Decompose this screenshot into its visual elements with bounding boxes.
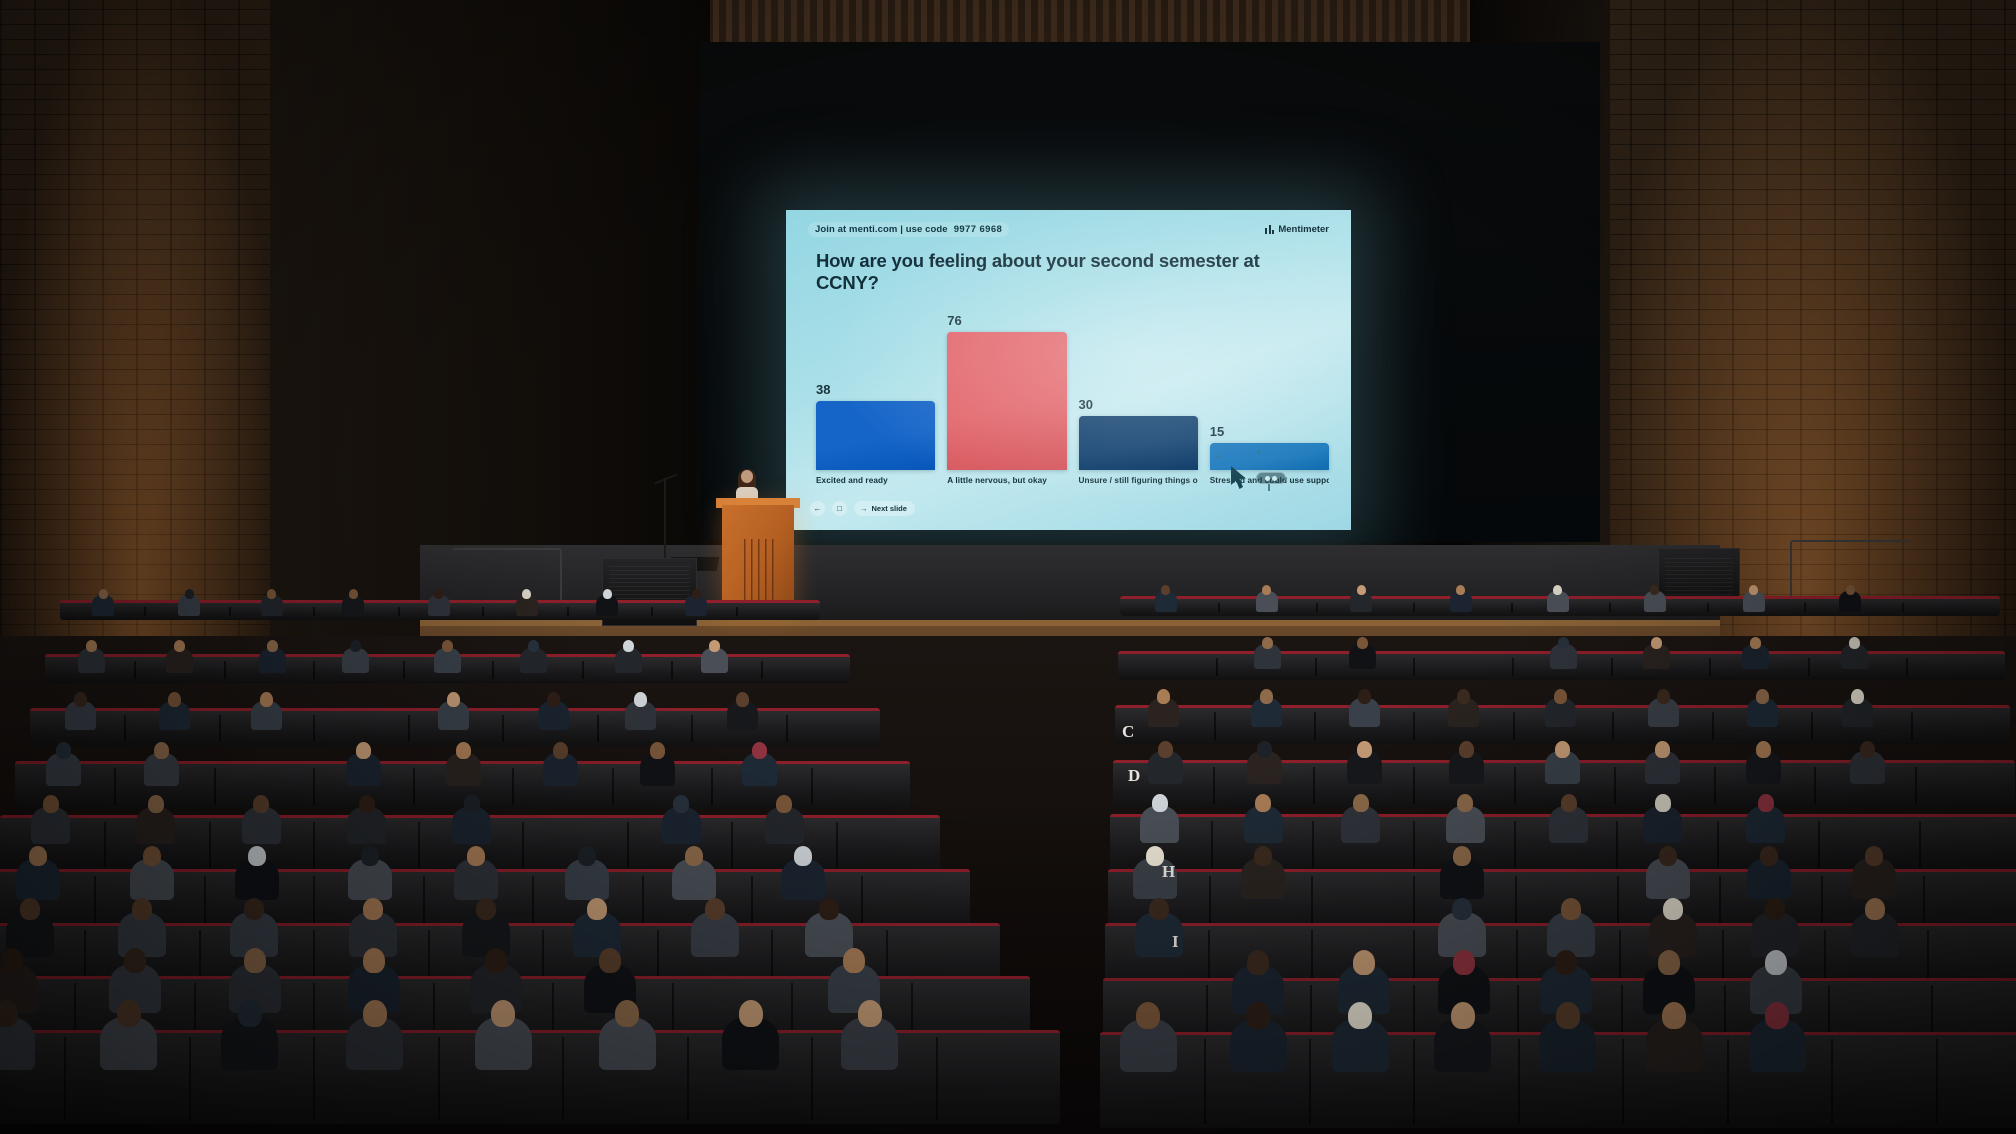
audience-member-head [1, 948, 23, 973]
bar-value-label: 38 [816, 382, 935, 397]
audience-member-head [491, 1000, 515, 1027]
seat-divider [313, 661, 315, 679]
audience-member-head [673, 795, 689, 813]
audience-member-head [522, 589, 531, 599]
audience-member-head [705, 898, 725, 920]
seat-divider [1413, 1039, 1415, 1124]
seat-divider [582, 661, 584, 679]
poll-bar-chart: 38763015 [816, 302, 1329, 470]
audience-member-head [1357, 585, 1366, 595]
seat-divider [1413, 821, 1415, 868]
seat-divider [1514, 767, 1516, 805]
audience-member-head [248, 846, 266, 866]
audience-member-head [434, 589, 443, 599]
seat-divider [597, 715, 599, 743]
audience-member-head [267, 589, 276, 599]
audience-member-head [174, 640, 185, 652]
join-instructions: Join at menti.com | use code9977 6968 [808, 222, 1009, 237]
audience-member-head [1556, 1002, 1580, 1029]
auditorium-scene: Join at menti.com | use code9977 6968 Me… [0, 0, 2016, 1134]
audience-member-head [56, 742, 71, 759]
audience-member-head [143, 846, 161, 866]
audience-member-head [185, 589, 194, 599]
seat-divider [1313, 767, 1315, 805]
audience-member-head [464, 795, 480, 813]
row-letter: C [1122, 722, 1134, 742]
seat-divider [1218, 603, 1220, 612]
audience-member-head [1457, 794, 1473, 812]
audience-member-head [74, 692, 87, 707]
audience-member-head [709, 640, 720, 652]
audience-member-head [1765, 950, 1787, 975]
audience-member-head [685, 846, 703, 866]
qr-code-icon[interactable]: □ [832, 501, 847, 516]
seat-divider [1213, 767, 1215, 805]
audience-member-head [356, 742, 371, 759]
seat-divider [1712, 712, 1714, 740]
seat-divider [1614, 767, 1616, 805]
audience-member-head [476, 898, 496, 920]
audience-member-head [1149, 898, 1169, 920]
seat-divider [711, 768, 713, 805]
audience-member-head [1865, 898, 1885, 920]
seat-divider [1609, 603, 1611, 612]
audience-member-head [244, 948, 266, 973]
audience-member-head [1561, 794, 1577, 812]
audience-member-head [1555, 950, 1577, 975]
seat-divider [438, 1037, 440, 1120]
seat-divider [1612, 712, 1614, 740]
seat-divider [418, 822, 420, 868]
seat-divider [651, 607, 653, 616]
audience-member-head [1760, 846, 1778, 866]
audience-member-head [1262, 585, 1271, 595]
audience-member-head [349, 589, 358, 599]
seat-divider [1804, 603, 1806, 612]
seat-divider [811, 1037, 813, 1120]
auditorium-house: CDHI [0, 636, 2016, 1134]
stage-sidewall-left [270, 0, 710, 640]
seat-divider [408, 715, 410, 743]
audience-member-head [253, 795, 269, 813]
audience-member-head [1459, 741, 1474, 758]
audience-member-head [1246, 1002, 1270, 1029]
audience-member-head [1662, 1002, 1686, 1029]
audience-member-head [1555, 741, 1570, 758]
audience-member-head [447, 692, 460, 707]
audience-member-head [467, 846, 485, 866]
audience-member-head [260, 692, 273, 707]
seat-divider [1312, 821, 1314, 868]
reaction-pill[interactable] [1256, 472, 1286, 484]
arrow-right-icon: → [860, 504, 868, 513]
seat-divider [313, 1037, 315, 1120]
audience-member-head [43, 795, 59, 813]
seat-divider [1315, 658, 1317, 677]
audience-member-head [267, 640, 278, 652]
seat-divider [219, 715, 221, 743]
seat-divider [313, 715, 315, 743]
chart-category-labels: Excited and readyA little nervous, but o… [816, 476, 1329, 485]
seat-divider [229, 607, 231, 616]
audience-member-head [1254, 846, 1272, 866]
audience-member-head [1257, 741, 1272, 758]
seat-divider [562, 1037, 564, 1120]
audience-member-head [615, 1000, 639, 1027]
audience-member-head [168, 692, 181, 707]
seat-divider [811, 768, 813, 805]
audience-member-head [485, 948, 507, 973]
seat-divider [403, 661, 405, 679]
audience-member-head [1657, 689, 1670, 704]
audience-member-head [1756, 689, 1769, 704]
audience-member-head [623, 640, 634, 652]
seat-divider [691, 715, 693, 743]
audience-member-head [1558, 637, 1569, 649]
audience-member-head [154, 742, 169, 759]
seat-divider [1919, 821, 1921, 868]
bar [947, 332, 1066, 470]
podium [722, 505, 794, 615]
seat-divider [1511, 603, 1513, 612]
audience-member-head [361, 846, 379, 866]
audience-member-head [1756, 741, 1771, 758]
brick-wall-left [0, 0, 280, 700]
row-letter: D [1128, 766, 1140, 786]
audience-member-head [1846, 585, 1855, 595]
seat-divider [1717, 821, 1719, 868]
brand-label: Mentimeter [1278, 224, 1329, 235]
seat-divider [736, 607, 738, 616]
slide-toolbar[interactable]: ← □ → Next slide [810, 501, 915, 516]
seat-divider [1936, 1039, 1938, 1124]
audience-member-head [692, 589, 701, 599]
seat-divider [313, 822, 315, 868]
audience-member-head [1659, 846, 1677, 866]
seat-divider [1413, 767, 1415, 805]
reaction-pointer [1268, 484, 1270, 491]
audience-member-head [117, 1000, 141, 1027]
audience-member-head [1561, 898, 1581, 920]
audience-member-head [1136, 1002, 1160, 1029]
audience-member-head [603, 589, 612, 599]
audience-member-head [1157, 689, 1170, 704]
bar [1210, 443, 1329, 470]
audience-member-head [363, 948, 385, 973]
audience-member-head [244, 898, 264, 920]
seat-divider [1413, 712, 1415, 740]
audience-member-head [1348, 1002, 1372, 1029]
slide-header: Join at menti.com | use code9977 6968 Me… [786, 221, 1351, 237]
seat-divider [1811, 712, 1813, 740]
audience-member-head [736, 692, 749, 707]
bar-column: 15 [1210, 302, 1329, 470]
audience-member-head [1765, 898, 1785, 920]
seat-divider [836, 822, 838, 868]
podium-slats [744, 539, 778, 601]
seat-divider [1214, 712, 1216, 740]
seat-divider [1818, 821, 1820, 868]
bar-value-label: 15 [1210, 424, 1329, 439]
audience-member-head [1453, 846, 1471, 866]
bar-column: 38 [816, 302, 935, 470]
audience-member-head [1161, 585, 1170, 595]
audience-member-head [350, 640, 361, 652]
mentimeter-brand: Mentimeter [1265, 224, 1329, 235]
seat-divider [1314, 712, 1316, 740]
seat-divider [1512, 658, 1514, 677]
seat-divider [209, 822, 211, 868]
seat-divider [134, 661, 136, 679]
audience-member-head [1655, 794, 1671, 812]
seat-divider [1714, 767, 1716, 805]
mentimeter-logo-icon [1265, 225, 1274, 234]
seat-divider [1611, 658, 1613, 677]
seat-divider [1709, 658, 1711, 677]
bar [816, 401, 935, 470]
audience-member-head [29, 846, 47, 866]
audience-member-head [547, 692, 560, 707]
audience-member-head [456, 742, 471, 759]
audience-member-head [1650, 585, 1659, 595]
audience-member-head [1247, 950, 1269, 975]
seat-divider [761, 661, 763, 679]
poll-question-title: How are you feeling about your second se… [816, 250, 1321, 294]
audience-member-head [1849, 637, 1860, 649]
category-label: Excited and ready [816, 476, 935, 485]
audience-member-head [776, 795, 792, 813]
seat-divider [1622, 1039, 1624, 1124]
audience-member-head [858, 1000, 882, 1027]
audience-member-head [1262, 637, 1273, 649]
presenter-head [741, 470, 753, 483]
audience-member-head [1663, 898, 1683, 920]
seat-divider [492, 661, 494, 679]
microphone-stand [664, 478, 666, 570]
seat-divider [214, 768, 216, 805]
seat-divider [1911, 712, 1913, 740]
audience-member-head [124, 948, 146, 973]
seat-divider [313, 607, 315, 616]
audience-member-head [1353, 950, 1375, 975]
seat-divider [936, 1037, 938, 1120]
audience-member-head [1158, 741, 1173, 758]
audience-member-head [1453, 950, 1475, 975]
seat-divider [104, 822, 106, 868]
seat-divider [627, 822, 629, 868]
seat-divider [144, 607, 146, 616]
bar [1079, 416, 1198, 470]
seat-divider [612, 768, 614, 805]
seat-divider [1831, 1039, 1833, 1124]
audience-member-head [1357, 741, 1372, 758]
audience-member-head [1750, 637, 1761, 649]
audience-member-head [1758, 794, 1774, 812]
audience-member-head [843, 948, 865, 973]
bar-value-label: 76 [947, 313, 1066, 328]
row-letter: H [1162, 862, 1175, 882]
audience-member-head [578, 846, 596, 866]
bar-column: 76 [947, 302, 1066, 470]
join-code: 9977 6968 [954, 224, 1003, 235]
audience-member-head [1851, 689, 1864, 704]
audience-member-head [1553, 585, 1562, 595]
seat-divider [64, 1037, 66, 1120]
audience-member-head [553, 742, 568, 759]
audience-member-head [1749, 585, 1758, 595]
audience-member-head [794, 846, 812, 866]
audience-member-head [650, 742, 665, 759]
seat-divider [1814, 767, 1816, 805]
audience-member-head [20, 898, 40, 920]
audience-member-head [1357, 637, 1368, 649]
category-label: A little nervous, but okay [947, 476, 1066, 485]
seat-divider [1513, 712, 1515, 740]
seat-divider [1211, 821, 1213, 868]
audience-member-head [442, 640, 453, 652]
seat-divider [1906, 658, 1908, 677]
audience-member-head [752, 742, 767, 759]
audience-member-head [1353, 794, 1369, 812]
seat-divider [1204, 1039, 1206, 1124]
seat-divider [1808, 658, 1810, 677]
seat-divider [502, 715, 504, 743]
next-slide-button[interactable]: → Next slide [854, 501, 915, 516]
audience-member-head [1655, 741, 1670, 758]
audience-member-head [363, 1000, 387, 1027]
audience-member-head [1456, 585, 1465, 595]
seat-divider [189, 1037, 191, 1120]
audience-member-head [1152, 794, 1168, 812]
audience-member-head [86, 640, 97, 652]
row-letter: I [1172, 932, 1179, 952]
audience-member-head [99, 589, 108, 599]
seat-divider [313, 768, 315, 805]
audience-member-head [1451, 1002, 1475, 1029]
audience-member-head [1658, 950, 1680, 975]
seat-divider [482, 607, 484, 616]
audience-member-head [1457, 689, 1470, 704]
audience-member-head [359, 795, 375, 813]
audience-member-head [1554, 689, 1567, 704]
audience-member-head [739, 1000, 763, 1027]
audience-member-head [1358, 689, 1371, 704]
bar-column: 30 [1079, 302, 1198, 470]
next-slide-label: Next slide [872, 504, 907, 513]
audience-member-head [363, 898, 383, 920]
audience-member-head [819, 898, 839, 920]
seat-divider [1616, 821, 1618, 868]
audience-member-head [634, 692, 647, 707]
mentimeter-slide[interactable]: Join at menti.com | use code9977 6968 Me… [786, 210, 1351, 530]
arrow-left-icon[interactable]: ← [810, 501, 825, 516]
seat-divider [687, 1037, 689, 1120]
audience-member-head [238, 1000, 262, 1027]
seat-divider [398, 607, 400, 616]
seat-divider [567, 607, 569, 616]
seat-divider [1514, 821, 1516, 868]
audience-member-head [528, 640, 539, 652]
seat-divider [522, 822, 524, 868]
seat-divider [512, 768, 514, 805]
seat-divider [114, 768, 116, 805]
seat-divider [413, 768, 415, 805]
audience-member-head [1860, 741, 1875, 758]
audience-member-head [1651, 637, 1662, 649]
seat-divider [1902, 603, 1904, 612]
audience-member-head [599, 948, 621, 973]
audience-member-head [132, 898, 152, 920]
audience-member-head [1865, 846, 1883, 866]
category-label: Unsure / still figuring things out [1079, 476, 1198, 485]
seat-divider [1413, 603, 1415, 612]
seat-divider [124, 715, 126, 743]
audience-member-head [1255, 794, 1271, 812]
seat-divider [671, 661, 673, 679]
audience-member-head [587, 898, 607, 920]
seat-divider [1413, 658, 1415, 677]
audience-member-head [1765, 1002, 1789, 1029]
seat-divider [1216, 658, 1218, 677]
seat-divider [1316, 603, 1318, 612]
audience-member-head [1452, 898, 1472, 920]
seat-divider [1707, 603, 1709, 612]
seat-divider [224, 661, 226, 679]
audience-member-head [1260, 689, 1273, 704]
seat-divider [786, 715, 788, 743]
audience-member-head [148, 795, 164, 813]
bar-value-label: 30 [1079, 397, 1198, 412]
seat-divider [1518, 1039, 1520, 1124]
seat-divider [1915, 767, 1917, 805]
join-text: Join at menti.com | use code [815, 224, 948, 235]
seat-divider [1309, 1039, 1311, 1124]
seat-divider [731, 822, 733, 868]
seat-divider [1727, 1039, 1729, 1124]
